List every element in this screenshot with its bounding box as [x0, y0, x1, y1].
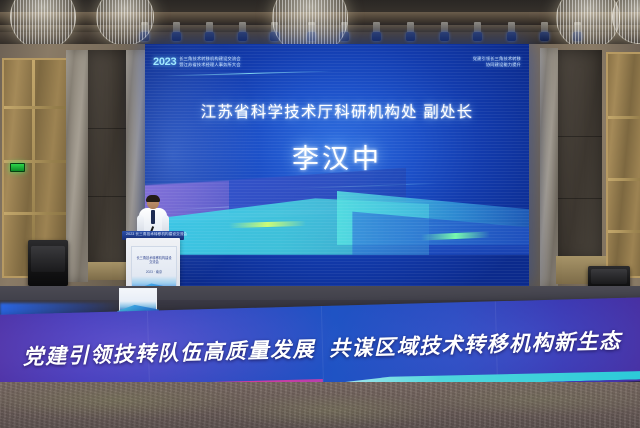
led-year-label: 2023 — [153, 56, 176, 68]
right-dark-panel — [558, 50, 602, 262]
stage-light — [440, 22, 449, 42]
conference-stage-photo: 2023 长三角技术转移机构建设交流会 暨江苏省技术经理人事务所大会 党建引领长… — [0, 0, 640, 428]
right-wood-door — [606, 52, 640, 278]
right-marble-pillar — [540, 48, 558, 288]
podium-panel-line2: 2023 · 南京 — [136, 269, 172, 274]
led-header-left: 2023 长三角技术转移机构建设交流会 暨江苏省技术经理人事务所大会 — [153, 56, 241, 68]
stage-light — [205, 22, 214, 42]
led-header-right-line2: 协同建设能力提升 — [473, 63, 521, 68]
stage-light — [372, 22, 381, 42]
led-screen: 2023 长三角技术转移机构建设交流会 暨江苏省技术经理人事务所大会 党建引领长… — [145, 44, 529, 289]
stage-light — [507, 22, 516, 42]
led-speaker-name: 李汉中 — [145, 137, 529, 176]
left-dark-panel — [88, 50, 126, 272]
led-speaker-title: 江苏省科学技术厅科研机构处 副处长 — [145, 100, 529, 122]
stage-light — [172, 22, 181, 42]
stage-light — [540, 22, 549, 42]
left-floor-speaker — [28, 240, 68, 286]
carpet-floor — [0, 382, 640, 428]
carpet-texture — [0, 382, 640, 428]
left-marble-pillar — [66, 50, 88, 282]
exit-sign — [10, 163, 25, 172]
stage-light — [406, 22, 415, 42]
led-header-left-line2: 暨江苏省技术经理人事务所大会 — [179, 63, 240, 68]
stage-light — [238, 22, 247, 42]
podium-top-text: 2023 长三角技术转移机构建设交流会 — [126, 233, 187, 237]
led-header-right: 党建引领长三角技术转移 协同建设能力提升 — [473, 57, 521, 68]
stage-light — [473, 22, 482, 42]
podium-panel-line1: 长三角技术转移机构建设交流会 — [136, 256, 172, 264]
led-header-left-line1: 长三角技术转移机构建设交流会 — [179, 57, 240, 62]
